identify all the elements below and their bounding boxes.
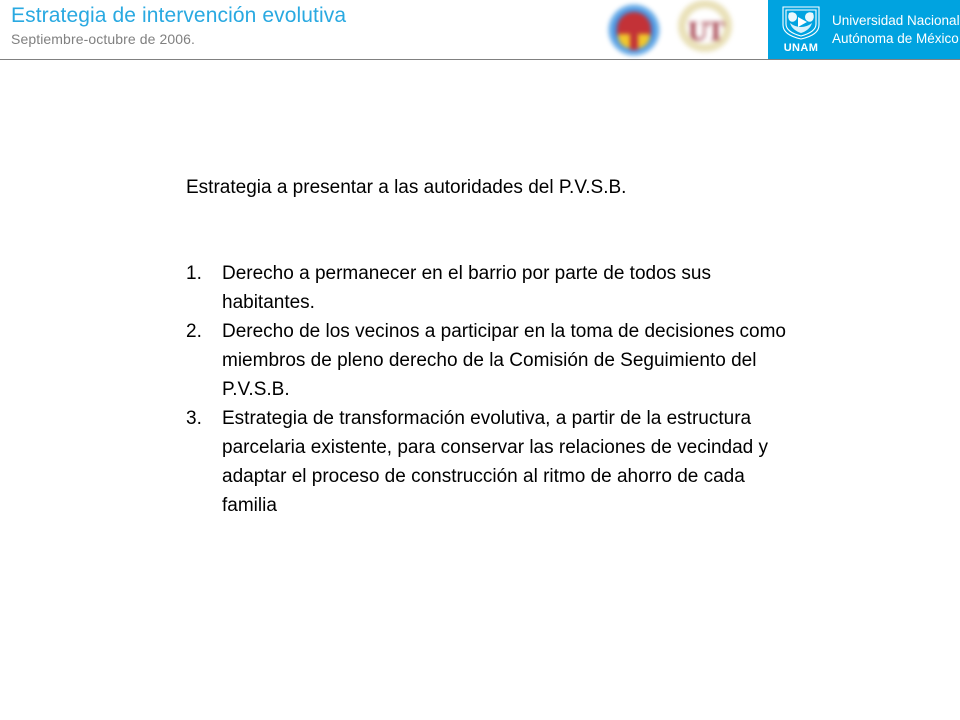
list-item: 2. Derecho de los vecinos a participar e… [186, 317, 806, 404]
lead-paragraph: Estrategia a presentar a las autoridades… [186, 175, 626, 200]
logo-strip: UT [600, 0, 768, 59]
strategy-list: 1. Derecho a permanecer en el barrio por… [186, 259, 806, 520]
unam-wordmark-line2: Autónoma de México [832, 30, 960, 48]
unam-logo-mark: UNAM [778, 5, 824, 55]
unam-shield-icon [780, 5, 822, 41]
slide-header: Estrategia de intervención evolutiva Sep… [0, 0, 960, 61]
page-title: Estrategia de intervención evolutiva [11, 3, 571, 28]
header-title-block: Estrategia de intervención evolutiva Sep… [11, 3, 571, 49]
header-divider [0, 59, 960, 60]
unam-wordmark: Universidad Nacional Autónoma de México [832, 12, 960, 48]
list-item-number: 2. [186, 317, 222, 346]
circular-emblem-logo [608, 4, 660, 56]
list-item-text: Derecho de los vecinos a participar en l… [222, 317, 787, 404]
slide: Estrategia de intervención evolutiva Sep… [0, 0, 960, 720]
list-item: 1. Derecho a permanecer en el barrio por… [186, 259, 806, 317]
list-item-number: 3. [186, 404, 222, 433]
unam-wordmark-line1: Universidad Nacional [832, 12, 960, 30]
unam-brand-panel: UNAM Universidad Nacional Autónoma de Mé… [768, 0, 960, 59]
list-item: 3. Estrategia de transformación evolutiv… [186, 404, 806, 520]
list-item-number: 1. [186, 259, 222, 288]
unam-acronym: UNAM [778, 42, 824, 54]
emblem-bar-shape [630, 32, 638, 50]
ut-logo-letters: UT [686, 18, 726, 45]
page-subtitle: Septiembre-octubre de 2006. [11, 30, 571, 49]
ut-ring-logo: UT [670, 0, 740, 56]
list-item-text: Estrategia de transformación evolutiva, … [222, 404, 787, 520]
list-item-text: Derecho a permanecer en el barrio por pa… [222, 259, 787, 317]
slide-content: Estrategia a presentar a las autoridades… [0, 61, 960, 720]
